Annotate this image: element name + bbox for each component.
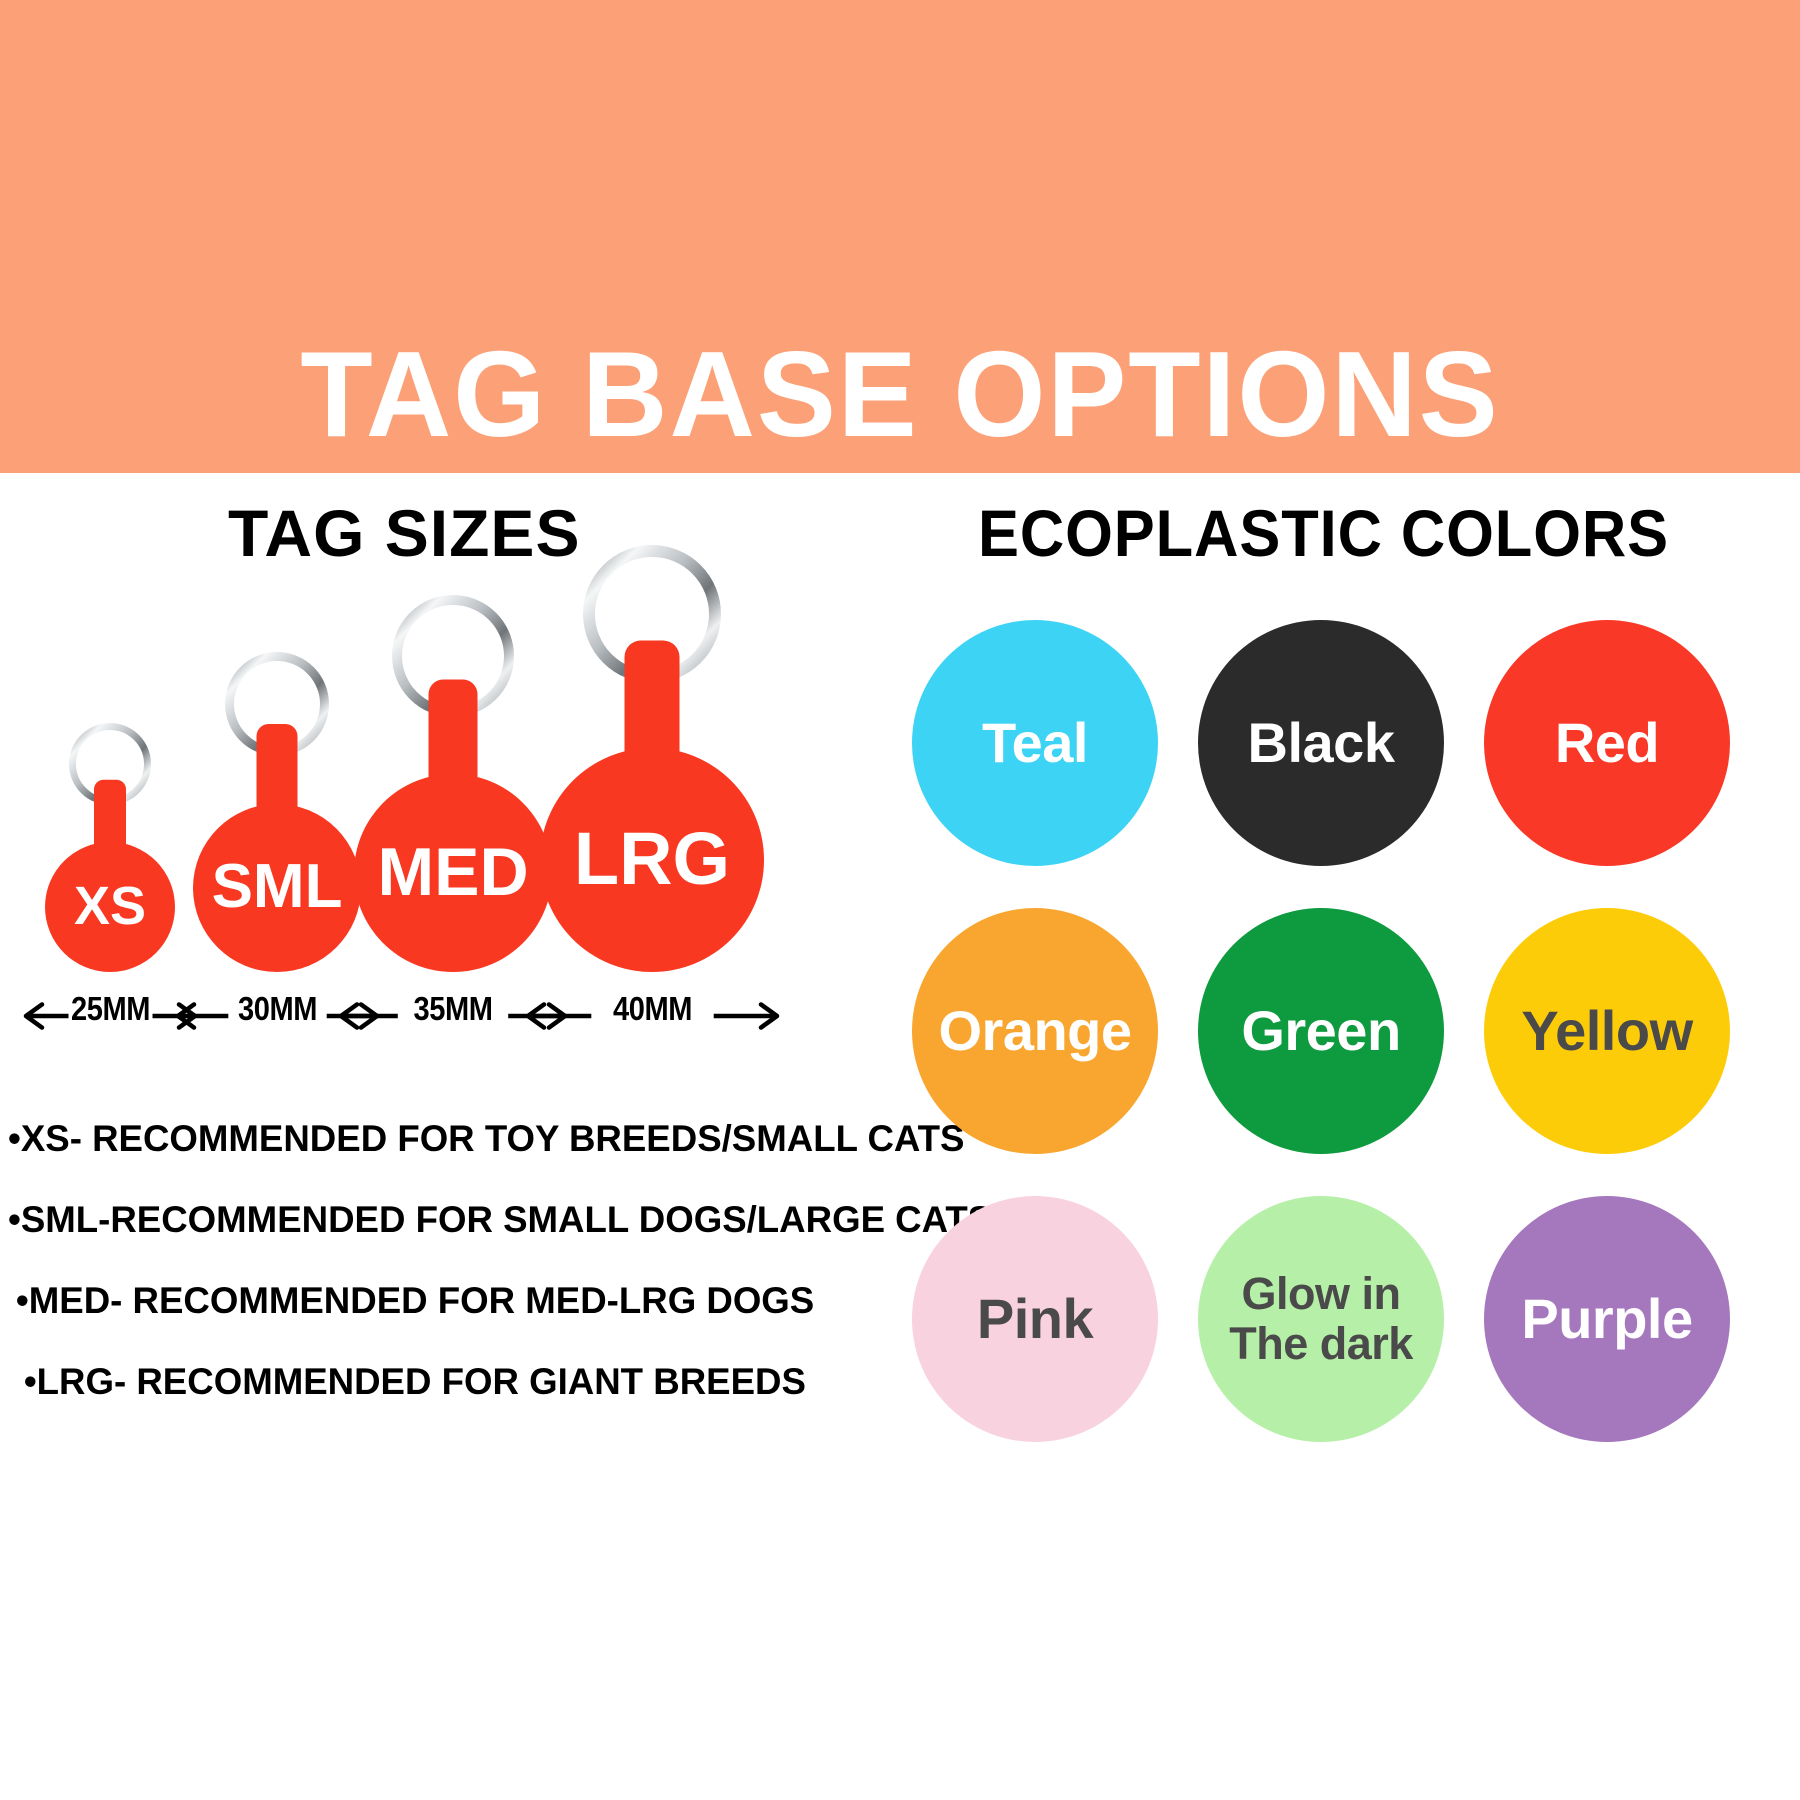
color-swatch-label: Pink <box>977 1290 1093 1347</box>
tag-size-lrg[interactable]: LRG <box>530 543 774 972</box>
tag-dimension-xs: 25MM <box>23 986 198 1040</box>
recommendation-item: •LRG- RECOMMENDED FOR GIANT BREEDS <box>8 1363 899 1400</box>
color-swatch-label: Purple <box>1521 1290 1692 1347</box>
tag-body <box>193 804 361 972</box>
tag-dimension-lrg: 40MM <box>525 986 780 1040</box>
tag-size-xs[interactable]: XS <box>35 721 185 972</box>
tag-shape-icon <box>183 650 371 972</box>
recommendation-list: •XS- RECOMMENDED FOR TOY BREEDS/SMALL CA… <box>8 1120 908 1444</box>
tag-dimension-label: 40MM <box>540 990 764 1028</box>
recommendation-item: •SML-RECOMMENDED FOR SMALL DOGS/LARGE CA… <box>8 1201 899 1238</box>
color-swatch-label: Yellow <box>1521 1002 1692 1059</box>
color-swatch-label: Glow inThe dark <box>1229 1269 1413 1370</box>
recommendation-item: •MED- RECOMMENDED FOR MED-LRG DOGS <box>8 1282 899 1319</box>
ecoplastic-colors-heading: ECOPLASTIC COLORS <box>978 500 1669 566</box>
ecoplastic-color-grid: TealBlackRedOrangeGreenYellowPinkGlow in… <box>912 620 1772 1442</box>
tag-sizes-panel: XS25MMSML30MMMED35MMLRG40MM <box>0 560 860 1080</box>
tag-body <box>354 774 552 972</box>
page-title: TAG BASE OPTIONS <box>27 0 1773 473</box>
color-swatch-label: Green <box>1241 1002 1400 1059</box>
color-swatch-green[interactable]: Green <box>1198 908 1444 1154</box>
tag-sizes-heading: TAG SIZES <box>228 500 580 566</box>
header-banner: TAG BASE OPTIONS <box>0 0 1800 473</box>
tag-body <box>540 748 764 972</box>
tag-dimension-label: 25MM <box>33 990 187 1028</box>
color-swatch-label: Orange <box>938 1002 1131 1059</box>
color-swatch-purple[interactable]: Purple <box>1484 1196 1730 1442</box>
color-swatch-label: Black <box>1248 714 1395 771</box>
tag-body <box>45 842 175 972</box>
color-swatch-orange[interactable]: Orange <box>912 908 1158 1154</box>
color-swatch-label: Red <box>1555 714 1659 771</box>
color-swatch-black[interactable]: Black <box>1198 620 1444 866</box>
color-swatch-pink[interactable]: Pink <box>912 1196 1158 1442</box>
color-swatch-teal[interactable]: Teal <box>912 620 1158 866</box>
color-swatch-yellow[interactable]: Yellow <box>1484 908 1730 1154</box>
color-swatch-label: Teal <box>982 714 1088 771</box>
color-swatch-red[interactable]: Red <box>1484 620 1730 866</box>
tag-shape-icon <box>530 543 774 972</box>
recommendation-item: •XS- RECOMMENDED FOR TOY BREEDS/SMALL CA… <box>8 1120 899 1157</box>
tag-shape-icon <box>35 721 185 972</box>
color-swatch-glow-in-the-dark[interactable]: Glow inThe dark <box>1198 1196 1444 1442</box>
tag-size-sml[interactable]: SML <box>183 650 371 972</box>
